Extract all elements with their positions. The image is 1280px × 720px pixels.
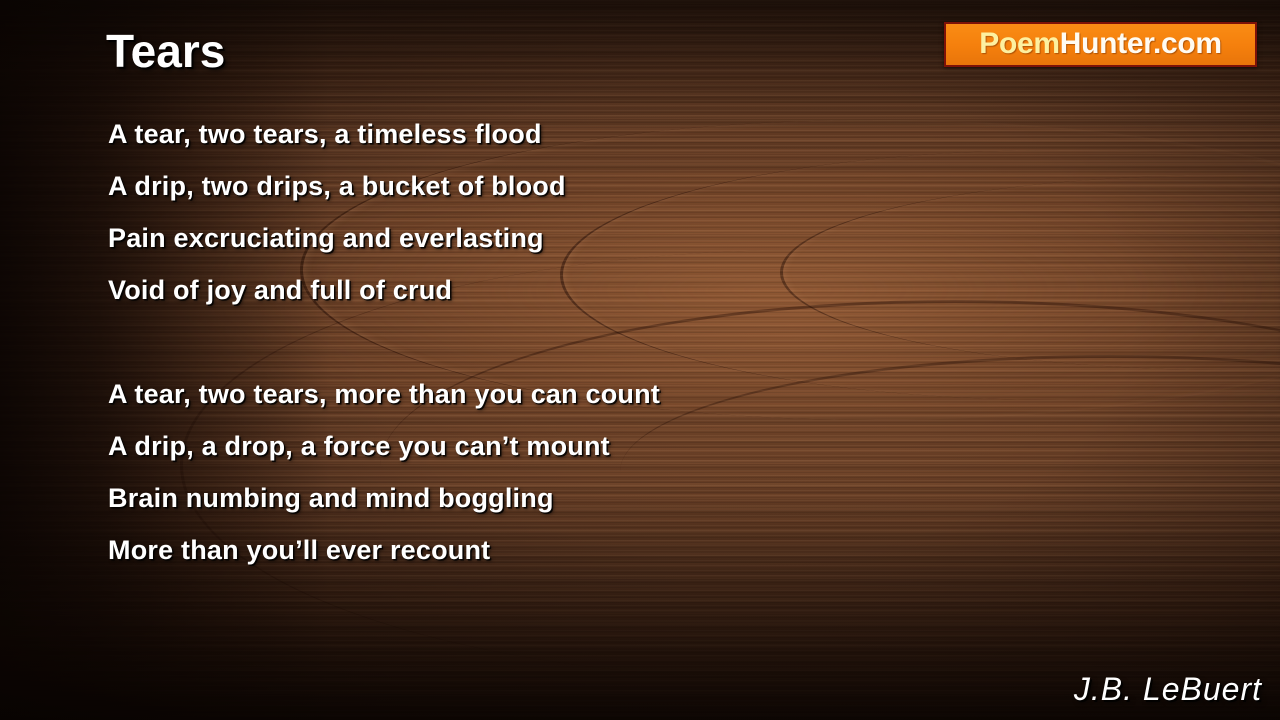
poem-line: Pain excruciating and everlasting <box>108 212 928 264</box>
content-layer: Tears A tear, two tears, a timeless floo… <box>0 0 1280 720</box>
poem-body: A tear, two tears, a timeless flood A dr… <box>108 108 928 576</box>
poem-stanza-break <box>108 316 928 368</box>
poem-line: A tear, two tears, more than you can cou… <box>108 368 928 420</box>
poem-line: More than you’ll ever recount <box>108 524 928 576</box>
poem-line: A drip, a drop, a force you can’t mount <box>108 420 928 472</box>
logo-text-hunter: Hunter.com <box>1060 27 1222 60</box>
poem-line: A drip, two drips, a bucket of blood <box>108 160 928 212</box>
poemhunter-logo[interactable]: PoemHunter.com <box>944 22 1257 67</box>
page-title: Tears <box>106 24 225 78</box>
logo-text: PoemHunter.com <box>979 29 1222 61</box>
poem-author: J.B. LeBuert <box>1074 671 1262 708</box>
poem-slide: Tears A tear, two tears, a timeless floo… <box>0 0 1280 720</box>
poem-line: A tear, two tears, a timeless flood <box>108 108 928 160</box>
poem-line: Brain numbing and mind boggling <box>108 472 928 524</box>
poem-line: Void of joy and full of crud <box>108 264 928 316</box>
logo-text-poem: Poem <box>979 27 1060 60</box>
